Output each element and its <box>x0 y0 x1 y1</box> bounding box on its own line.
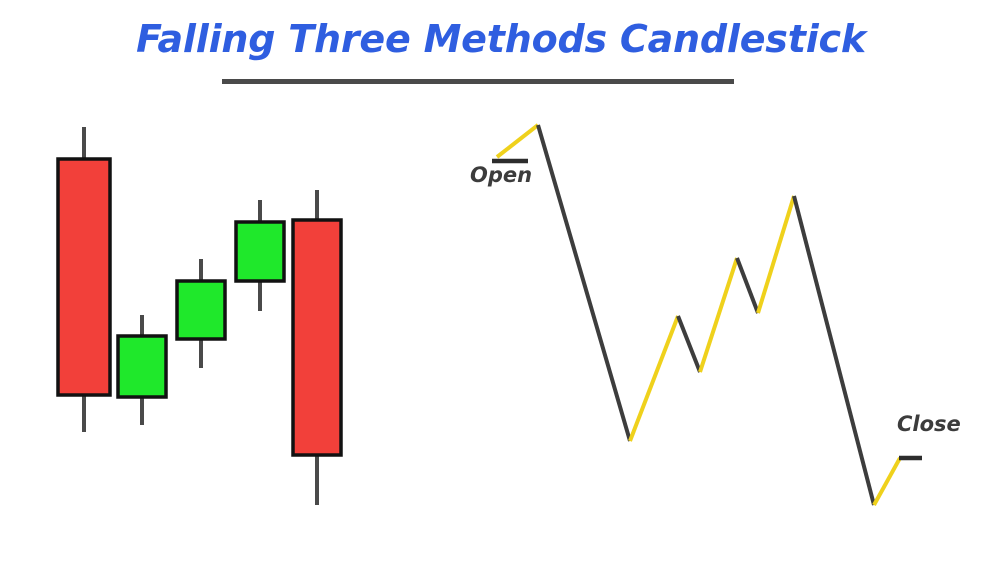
path-segment-up-4 <box>758 196 794 313</box>
path-segment-down-2 <box>678 316 700 372</box>
path-segment-up-1 <box>497 125 538 157</box>
price-path-chart <box>0 0 1002 566</box>
path-segment-up-5 <box>874 458 900 505</box>
path-segment-down-4 <box>794 196 874 505</box>
path-segment-up-3 <box>700 258 737 372</box>
path-segment-up-2 <box>630 316 678 441</box>
figure-canvas: Falling Three Methods Candlestick <box>0 0 1002 566</box>
close-label: Close <box>897 412 961 436</box>
open-label: Open <box>470 163 532 187</box>
path-segment-down-1 <box>538 125 630 441</box>
path-segment-down-3 <box>737 258 758 313</box>
